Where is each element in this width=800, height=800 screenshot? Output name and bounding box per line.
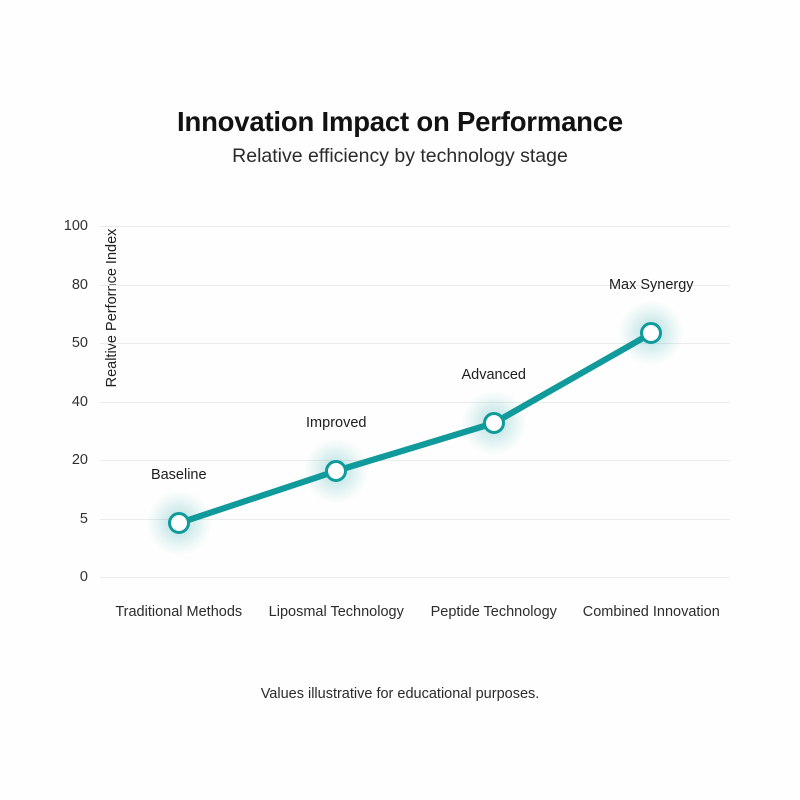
data-point-label: Baseline <box>151 467 207 483</box>
y-axis-tick-label: 100 <box>30 218 88 234</box>
x-axis-tick-label: Peptide Technology <box>431 604 557 620</box>
data-point-label: Max Synergy <box>609 277 694 293</box>
data-point-marker[interactable] <box>168 512 190 534</box>
y-axis-tick-label: 80 <box>30 277 88 293</box>
x-axis-tick-label: Liposmal Technology <box>269 604 404 620</box>
data-point-marker[interactable] <box>325 460 347 482</box>
data-point-label: Improved <box>306 415 366 431</box>
y-axis-tick-label: 0 <box>30 569 88 585</box>
x-axis-tick-label: Combined Innovation <box>583 604 720 620</box>
gridline <box>100 577 730 578</box>
chart-figure: Innovation Impact on Performance Relativ… <box>0 0 800 800</box>
y-axis-tick-label: 40 <box>30 394 88 410</box>
page-title: Innovation Impact on Performance <box>0 106 800 138</box>
y-axis-tick-label: 50 <box>30 335 88 351</box>
x-axis-tick-label: Traditional Methods <box>115 604 242 620</box>
data-point-label: Advanced <box>462 367 527 383</box>
gridline <box>100 402 730 403</box>
data-point-marker[interactable] <box>640 322 662 344</box>
footer-note: Values illustrative for educational purp… <box>0 686 800 702</box>
y-axis-tick-label: 20 <box>30 452 88 468</box>
chart-subtitle: Relative efficiency by technology stage <box>0 145 800 168</box>
gridline <box>100 226 730 227</box>
gridline <box>100 460 730 461</box>
y-axis-tick-label: 5 <box>30 511 88 527</box>
data-point-marker[interactable] <box>483 412 505 434</box>
